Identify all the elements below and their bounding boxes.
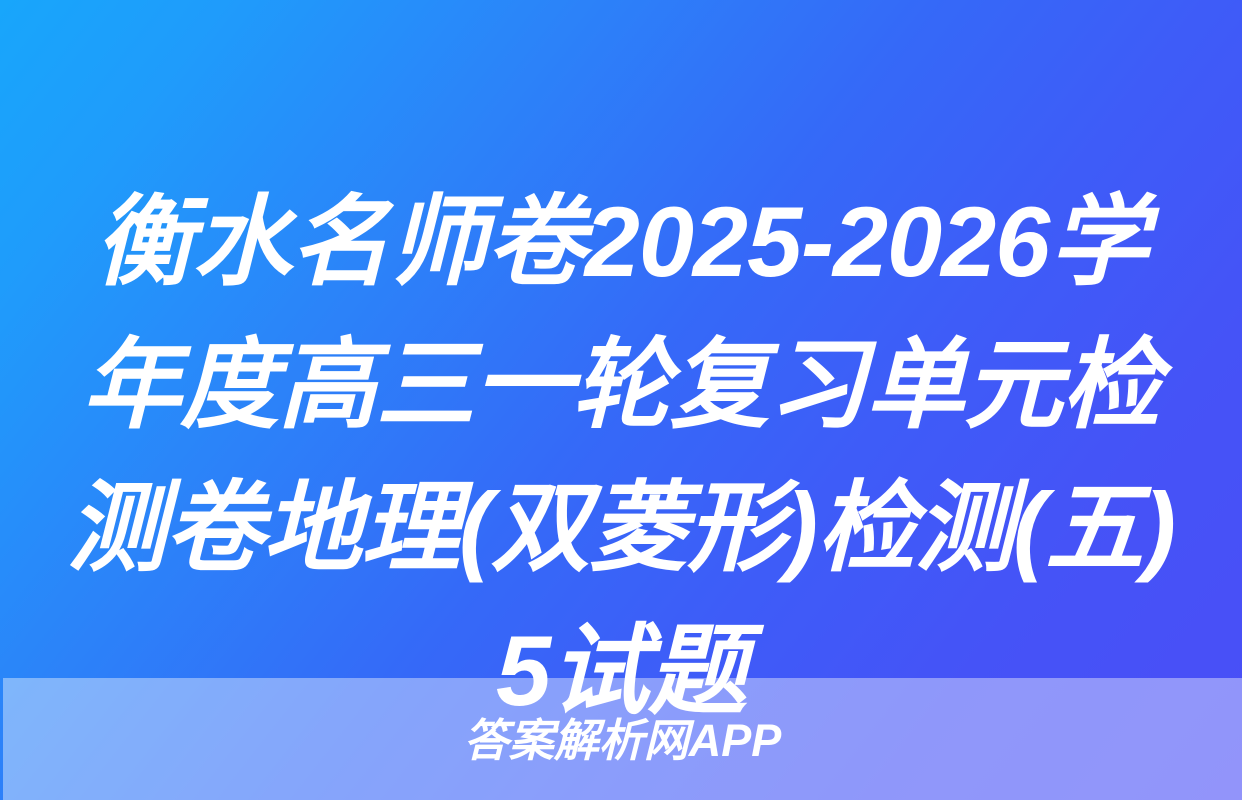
watermark-band: 答案解析网APP [3,678,1242,800]
watermark-label: 答案解析网APP [464,718,782,763]
page-title: 衡水名师卷2025-2026学年度高三一轮复习单元检测卷地理(双菱形)检测(五)… [52,170,1190,742]
poster-canvas: 衡水名师卷2025-2026学年度高三一轮复习单元检测卷地理(双菱形)检测(五)… [0,0,1242,800]
